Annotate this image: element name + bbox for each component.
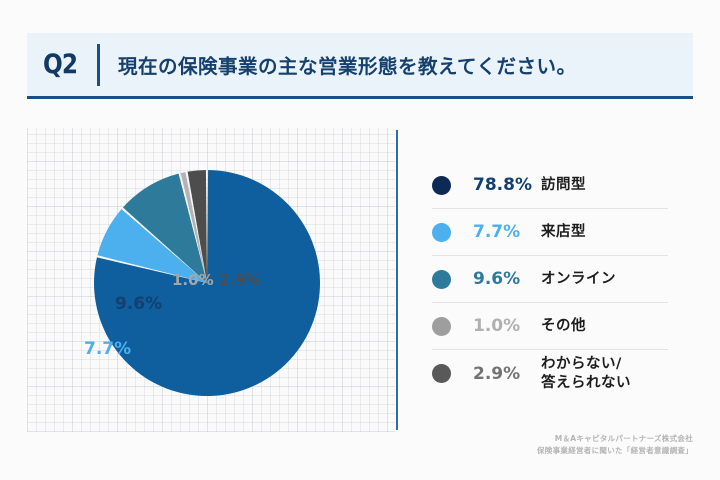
legend-label-line2: 答えられない [541, 374, 631, 392]
source-credit: M＆Aキャピタルパートナーズ株式会社 保険事業経営者に聞いた「経営者意識調査」 [537, 433, 693, 456]
credit-survey: 保険事業経営者に聞いた「経営者意識調査」 [537, 445, 693, 457]
question-number: Q2 [43, 49, 84, 80]
legend-label-line1: 来店型 [541, 224, 586, 240]
legend-dot-icon [432, 270, 451, 289]
legend-label: 来店型 [541, 223, 586, 241]
legend-label-line1: オンライン [541, 271, 616, 287]
legend-item-other[interactable]: 1.0% その他 [432, 303, 668, 350]
legend-label: 訪問型 [541, 176, 586, 194]
legend-label: わからない/ 答えられない [541, 355, 631, 391]
legend-item-online[interactable]: 9.6% オンライン [432, 256, 668, 303]
legend-percent: 9.6% [473, 269, 541, 289]
legend-label-line1: 訪問型 [541, 177, 586, 193]
legend-item-store[interactable]: 7.7% 来店型 [432, 209, 668, 256]
pie-label-other: 1.0% [172, 271, 214, 289]
pie-label-online: 9.6% [115, 294, 162, 314]
pie-label-unknown: 2.9% [219, 271, 261, 289]
chart-legend: 78.8% 訪問型 7.7% 来店型 9.6% オンライン 1.0% その他 2… [432, 162, 668, 397]
panel-divider [396, 130, 398, 430]
credit-company: M＆Aキャピタルパートナーズ株式会社 [537, 433, 693, 445]
legend-item-unknown[interactable]: 2.9% わからない/ 答えられない [432, 350, 668, 397]
legend-percent: 2.9% [473, 364, 541, 384]
legend-label-line1: その他 [541, 318, 586, 334]
legend-label: オンライン [541, 270, 616, 288]
legend-percent: 78.8% [473, 175, 541, 195]
legend-label-line1: わからない/ [541, 356, 622, 372]
legend-label: その他 [541, 317, 586, 335]
legend-percent: 7.7% [473, 222, 541, 242]
question-title: 現在の保険事業の主な営業形態を教えてください。 [118, 50, 576, 79]
legend-dot-icon [432, 317, 451, 336]
legend-item-visit[interactable]: 78.8% 訪問型 [432, 162, 668, 209]
legend-percent: 1.0% [473, 316, 541, 336]
legend-dot-icon [432, 176, 451, 195]
legend-dot-icon [432, 223, 451, 242]
header-divider [97, 44, 100, 86]
question-header: Q2 現在の保険事業の主な営業形態を教えてください。 [27, 33, 693, 99]
pie-label-store: 7.7% [84, 339, 131, 359]
legend-dot-icon [432, 364, 451, 383]
chart-panel: 78.8% 9.6% 7.7% 1.0% 2.9% [27, 128, 395, 432]
